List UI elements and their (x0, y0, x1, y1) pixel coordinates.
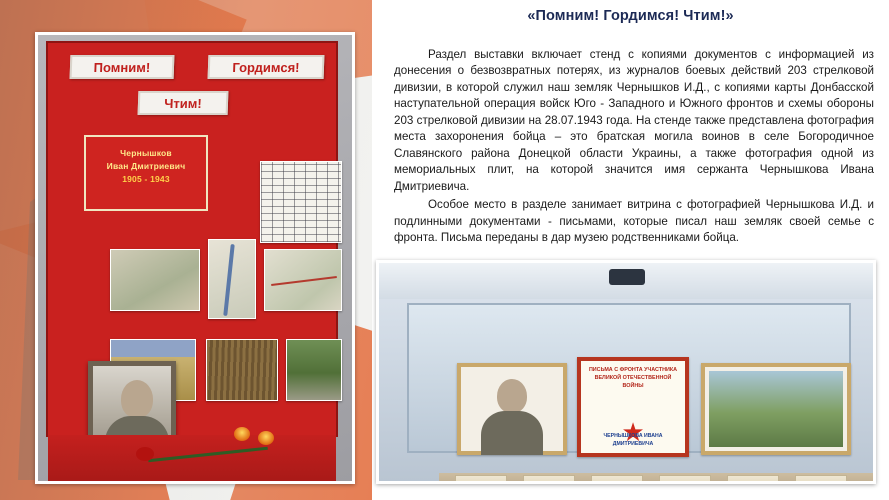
candle-icon-1 (234, 427, 250, 441)
stand-red-board: Помним! Гордимся! Чтим! Чернышков Иван Д… (46, 41, 338, 437)
stand-map-donbass (110, 249, 200, 311)
stand-banner-pomnim: Помним! (70, 55, 175, 79)
name-plate-surname: Чернышков (86, 147, 206, 160)
paragraph-2: Особое место в разделе занимает витрина … (394, 197, 874, 246)
stand-document-table (260, 161, 342, 243)
stand-map-defense (264, 249, 342, 311)
showcase-letter-4 (659, 475, 711, 484)
showcase-letter-6 (795, 475, 847, 484)
showcase-letter-5 (727, 475, 779, 484)
showcase-poster-subheading: ЧЕРНЫШКОВА ИВАНА ДМИТРИЕВИЧА (585, 433, 681, 448)
showcase-lamp-icon (609, 269, 645, 285)
showcase-poster-heading: ПИСЬМА С ФРОНТА УЧАСТНИКА ВЕЛИКОЙ ОТЕЧЕС… (585, 367, 681, 390)
stand-room: Помним! Гордимся! Чтим! Чернышков Иван Д… (38, 35, 352, 481)
stand-red-table (48, 435, 336, 481)
showcase-glass-case: ПИСЬМА С ФРОНТА УЧАСТНИКА ВЕЛИКОЙ ОТЕЧЕС… (407, 303, 851, 453)
showcase-landscape-frame (701, 363, 851, 455)
page-title: «Помним! Гордимся! Чтим!» (372, 8, 889, 24)
photo-museum-showcase: ПИСЬМА С ФРОНТА УЧАСТНИКА ВЕЛИКОЙ ОТЕЧЕС… (376, 260, 876, 484)
showcase-letter-3 (591, 475, 643, 484)
body-text: Раздел выставки включает стенд с копиями… (394, 47, 874, 248)
showcase-portrait-frame (457, 363, 567, 455)
candle-icon-2 (258, 431, 274, 445)
stand-banner-chtim: Чтим! (138, 91, 229, 115)
name-plate-name: Иван Дмитриевич (86, 160, 206, 173)
stand-map-scheme (208, 239, 256, 319)
showcase-letter-2 (523, 475, 575, 484)
showcase-wall: ПИСЬМА С ФРОНТА УЧАСТНИКА ВЕЛИКОЙ ОТЕЧЕС… (379, 263, 873, 481)
name-plate-years: 1905 - 1943 (86, 173, 206, 186)
paragraph-1: Раздел выставки включает стенд с копиями… (394, 47, 874, 195)
rose-flower-icon (136, 447, 154, 461)
stand-photo-grave-alley (286, 339, 342, 401)
stand-photo-memorial-plate (206, 339, 278, 401)
photo-exhibition-stand: Помним! Гордимся! Чтим! Чернышков Иван Д… (35, 32, 355, 484)
stand-banner-gordimsya: Гордимся! (208, 55, 325, 79)
stand-name-plate: Чернышков Иван Дмитриевич 1905 - 1943 (84, 135, 208, 211)
showcase-center-poster: ПИСЬМА С ФРОНТА УЧАСТНИКА ВЕЛИКОЙ ОТЕЧЕС… (577, 357, 689, 457)
showcase-letter-1 (455, 475, 507, 484)
